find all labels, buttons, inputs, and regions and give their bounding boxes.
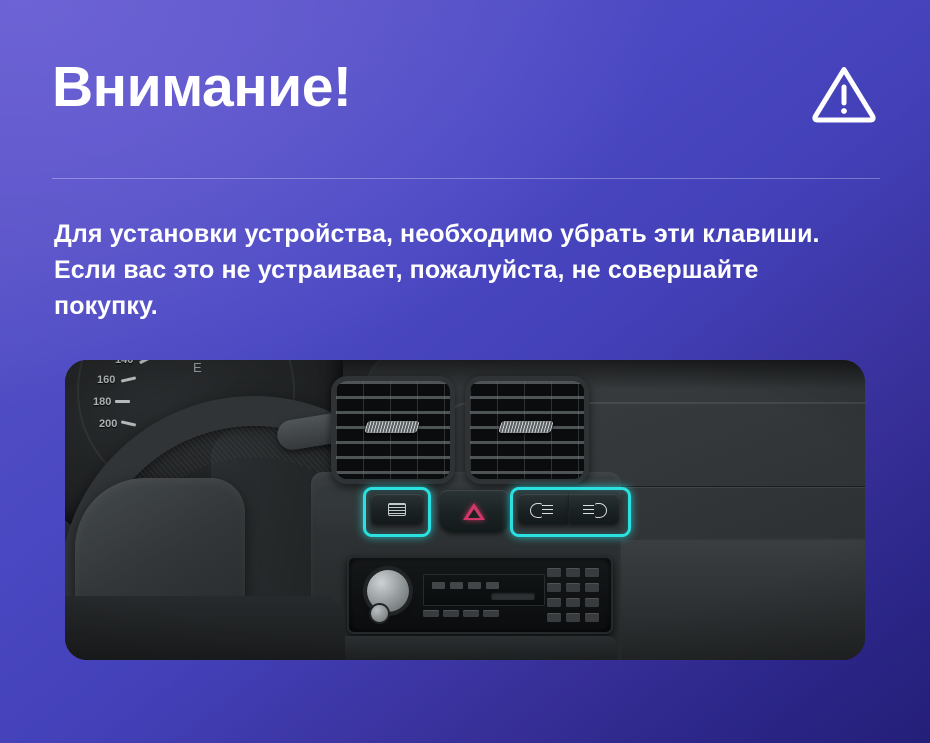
header-divider bbox=[52, 178, 880, 179]
vent-adjuster-wheel[interactable] bbox=[364, 421, 419, 433]
rear-fog-light-button[interactable] bbox=[569, 494, 619, 524]
right-air-vent bbox=[465, 376, 589, 484]
stereo-preset-grid[interactable] bbox=[547, 568, 603, 624]
stereo-display bbox=[423, 574, 545, 606]
stereo-preset-button[interactable] bbox=[566, 568, 580, 577]
stereo-function-button[interactable] bbox=[423, 610, 439, 617]
console-tray bbox=[317, 636, 617, 660]
stereo-preset-button[interactable] bbox=[547, 568, 561, 577]
header: Внимание! bbox=[52, 52, 878, 140]
page-title: Внимание! bbox=[52, 52, 351, 122]
vent-adjuster-wheel[interactable] bbox=[498, 421, 553, 433]
stereo-function-button[interactable] bbox=[443, 610, 459, 617]
body-line-1: Для установки устройства, необходимо убр… bbox=[54, 216, 864, 252]
secondary-knob[interactable] bbox=[371, 605, 388, 622]
stereo-preset-button[interactable] bbox=[566, 583, 580, 592]
left-air-vent bbox=[331, 376, 455, 484]
stereo-preset-button[interactable] bbox=[585, 583, 599, 592]
volume-knob[interactable] bbox=[367, 570, 409, 612]
defroster-icon bbox=[388, 503, 406, 516]
speed-tick-160: 160 bbox=[97, 374, 115, 386]
speed-tick-140: 140 bbox=[115, 360, 133, 366]
front-fog-icon bbox=[530, 502, 556, 517]
fuel-gauge-glyph: E bbox=[193, 360, 202, 375]
stereo-preset-button[interactable] bbox=[547, 598, 561, 607]
stereo-preset-button[interactable] bbox=[566, 598, 580, 607]
hazard-lights-button[interactable] bbox=[439, 490, 509, 532]
speed-tick-180: 180 bbox=[93, 396, 111, 408]
rear-defroster-button[interactable] bbox=[371, 494, 423, 524]
stereo-preset-button[interactable] bbox=[566, 613, 580, 622]
body-line-3: покупку. bbox=[54, 288, 864, 324]
stereo-preset-button[interactable] bbox=[585, 598, 599, 607]
dashboard-photo: km/h 140 160 180 200 E C bbox=[65, 360, 865, 660]
stereo-preset-button[interactable] bbox=[547, 613, 561, 622]
stereo-preset-button[interactable] bbox=[547, 583, 561, 592]
gauge-tick-mark bbox=[115, 400, 130, 403]
stereo-function-button[interactable] bbox=[463, 610, 479, 617]
driver-knee-panel bbox=[65, 596, 345, 660]
front-fog-light-button[interactable] bbox=[518, 494, 568, 524]
rear-fog-icon bbox=[581, 502, 607, 517]
hazard-triangle-icon bbox=[463, 503, 485, 520]
warning-slide: Внимание! Для установки устройства, необ… bbox=[0, 0, 930, 743]
stereo-function-button[interactable] bbox=[483, 610, 499, 617]
car-stereo-head-unit[interactable] bbox=[347, 556, 613, 634]
cd-slot[interactable] bbox=[491, 592, 535, 600]
body-line-2: Если вас это не устраивает, пожалуйста, … bbox=[54, 252, 864, 288]
body-copy: Для установки устройства, необходимо убр… bbox=[54, 216, 864, 324]
warning-triangle-icon bbox=[810, 62, 878, 126]
speed-tick-200: 200 bbox=[99, 418, 117, 430]
stereo-preset-button[interactable] bbox=[585, 613, 599, 622]
stereo-preset-button[interactable] bbox=[585, 568, 599, 577]
